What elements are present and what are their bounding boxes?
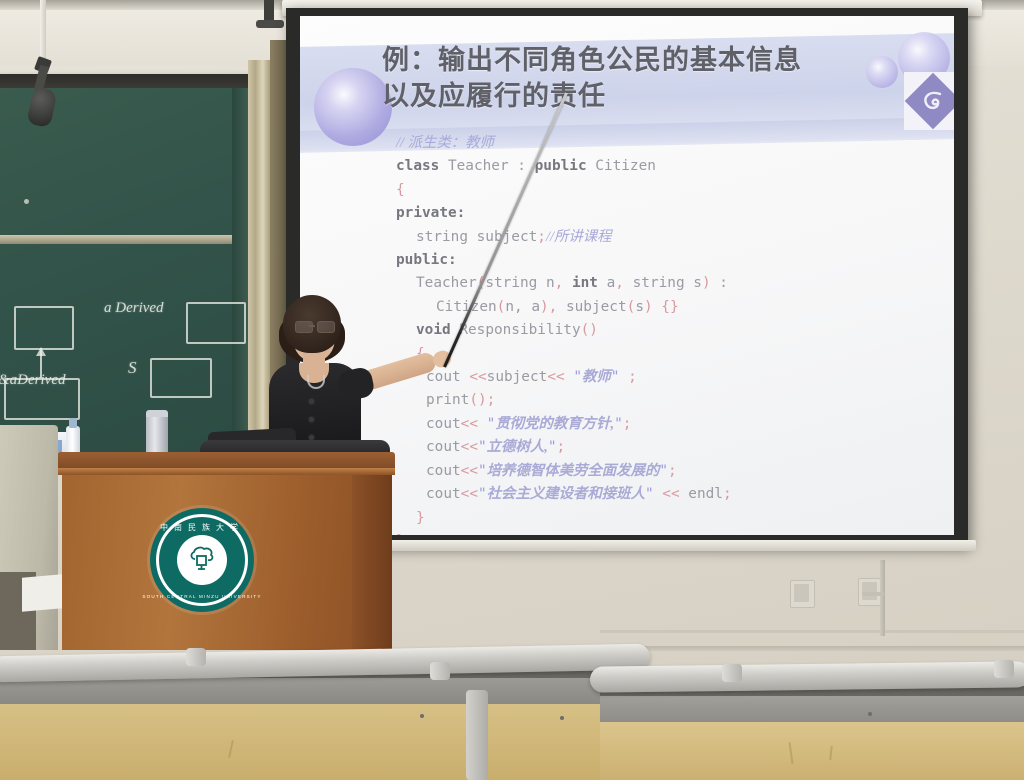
outlet-socket	[794, 584, 809, 602]
slide-title-line-2: 以及应履行的责任	[382, 78, 902, 114]
code-line: public:	[396, 249, 954, 272]
code-token: subject	[487, 369, 548, 385]
wall-conduit-elbow	[862, 592, 884, 596]
podium-side-panel	[352, 468, 392, 650]
code-token: ;	[723, 486, 732, 502]
code-token: (	[627, 299, 636, 315]
code-token: <<	[461, 486, 478, 502]
tree-icon	[185, 543, 219, 577]
blackboard-magnet	[24, 199, 29, 204]
ceiling-bracket-arm	[256, 20, 284, 28]
code-token: ;	[537, 229, 546, 245]
code-token: )	[702, 275, 711, 291]
handrail-front-clip-2	[994, 660, 1014, 678]
code-line: void Responsibility()	[396, 319, 954, 342]
slide-code-block: // 派生类：教师class Teacher : public Citizen{…	[396, 132, 954, 535]
code-token: "	[548, 439, 557, 455]
handrail-clip-2	[430, 662, 450, 680]
code-token: a	[607, 275, 616, 291]
handrail-front[interactable]	[590, 661, 1024, 692]
code-token: <<	[547, 369, 573, 385]
code-token: Citizen	[595, 158, 656, 174]
wall-conduit-pipe	[880, 560, 885, 636]
code-token: string n	[485, 275, 554, 291]
front-desk-gray-band-right	[600, 694, 1024, 722]
button-2	[309, 417, 314, 422]
code-line: print();	[396, 389, 954, 412]
code-token: <<	[469, 369, 486, 385]
cabinet-paper-sheet	[22, 574, 62, 611]
code-token: n, a	[505, 299, 540, 315]
code-token: ;	[668, 463, 677, 479]
code-token: private:	[396, 205, 465, 221]
code-line: class Teacher : public Citizen	[396, 155, 954, 178]
power-outlet-left[interactable]	[790, 580, 815, 608]
code-token: "	[478, 439, 487, 455]
desk-screw-1	[420, 714, 424, 718]
code-token: {	[396, 182, 405, 198]
thermos-cap	[146, 410, 168, 417]
blackboard-panel-gap	[232, 88, 248, 460]
code-token: ;	[557, 439, 566, 455]
spiral-diamond-icon	[905, 73, 954, 130]
front-desk-panel-right	[600, 718, 1024, 780]
water-bottle-cap	[69, 418, 77, 428]
wall-seam	[600, 646, 1024, 651]
chalk-box-top-left	[14, 306, 74, 350]
slide-title-line-1: 例：输出不同角色公民的基本信息	[382, 42, 902, 78]
code-token: endl	[688, 486, 723, 502]
code-token: "	[659, 463, 668, 479]
code-token: ,	[555, 275, 572, 291]
front-desk-panel-left	[0, 700, 620, 780]
emblem-ring: 中南民族大学 1951 SOUTH CENTRAL MINZU UNIVERSI…	[156, 514, 248, 606]
code-token: "	[478, 463, 487, 479]
code-line: cout<<"立德树人,";	[396, 436, 954, 459]
code-line: }	[396, 507, 954, 530]
chalk-box-top-right	[186, 302, 246, 344]
code-token: "	[645, 486, 654, 502]
code-token: <<	[461, 439, 478, 455]
code-line: string subject;//所讲课程	[396, 226, 954, 249]
decorative-sphere-left	[314, 68, 392, 146]
code-line: };	[396, 530, 954, 535]
code-token: cout	[426, 369, 469, 385]
code-token: cout	[426, 439, 461, 455]
desk-screw-2	[560, 716, 564, 720]
chalk-note-s: S	[128, 358, 137, 378]
code-token: ;	[623, 416, 632, 432]
code-token: <<	[654, 486, 689, 502]
glasses-right-lens-icon	[317, 321, 335, 333]
glasses-bridge	[309, 325, 315, 327]
code-token: "	[478, 486, 487, 502]
code-line: cout<<"社会主义建设者和接班人" << endl;	[396, 483, 954, 506]
desk-divider-post	[466, 690, 488, 780]
code-token: subject	[566, 299, 627, 315]
code-line: cout <<subject<< "教师" ;	[396, 366, 954, 389]
code-token: string s	[633, 275, 702, 291]
code-token: Teacher	[416, 275, 477, 291]
code-token: };	[396, 533, 413, 535]
code-line: {	[396, 343, 954, 366]
classroom-scene: a Derived S &aDerived 例：输出不同角色公民的基本信息 以及…	[0, 0, 1024, 780]
emblem-founding-year: 1951	[196, 587, 207, 593]
university-emblem: 中南民族大学 1951 SOUTH CENTRAL MINZU UNIVERSI…	[150, 508, 254, 612]
code-token: }	[416, 510, 425, 526]
emblem-english-name: SOUTH CENTRAL MINZU UNIVERSITY	[142, 594, 261, 599]
presentation-slide: 例：输出不同角色公民的基本信息 以及应履行的责任 // 派生类：教师class …	[300, 16, 954, 535]
outlet-socket	[862, 582, 877, 600]
code-token: //所讲课程	[546, 229, 612, 245]
handrail-clip-1	[186, 648, 206, 666]
code-token: public:	[396, 252, 457, 268]
code-token: ,	[615, 275, 632, 291]
slide-title: 例：输出不同角色公民的基本信息 以及应履行的责任	[382, 42, 902, 114]
button-1	[309, 399, 314, 404]
blackboard-slide-rail	[0, 235, 271, 244]
code-line: cout<< "贯彻党的教育方针,";	[396, 413, 954, 436]
code-token: int	[572, 275, 607, 291]
code-line: // 派生类：教师	[396, 132, 954, 155]
code-line: private:	[396, 202, 954, 225]
code-token: "	[611, 369, 628, 385]
code-token: :	[711, 275, 728, 291]
code-token: Teacher :	[448, 158, 535, 174]
code-token: 培养德智体美劳全面发展的	[487, 463, 660, 479]
slide-corner-logo	[904, 72, 954, 130]
code-token: cout	[426, 463, 461, 479]
code-token: 教师	[582, 369, 611, 385]
chalk-note-ref-a-derived: &aDerived	[0, 372, 65, 389]
code-line: cout<<"培养德智体美劳全面发展的";	[396, 460, 954, 483]
code-token: 立德树人,	[487, 439, 548, 455]
glasses-left-lens-icon	[295, 321, 313, 333]
code-line: Citizen(n, a), subject(s) {}	[396, 296, 954, 319]
code-token: "	[573, 369, 582, 385]
code-token: <<	[461, 463, 478, 479]
code-token: print	[426, 392, 469, 408]
spiral-icon	[920, 88, 946, 114]
wall-seam-secondary	[600, 630, 1024, 633]
code-token: ();	[469, 392, 495, 408]
chalk-note-a-derived: a Derived	[104, 300, 164, 317]
code-token: Responsibility	[459, 322, 580, 338]
desk-screw-3	[868, 712, 872, 716]
code-token: ()	[581, 322, 598, 338]
code-token: 贯彻党的教育方针,	[495, 416, 614, 432]
code-token: public	[535, 158, 596, 174]
handrail-front-clip-1	[722, 664, 742, 682]
code-token: s	[635, 299, 644, 315]
emblem-chinese-name: 中南民族大学	[160, 522, 244, 533]
podium-lip-molding	[57, 468, 395, 475]
code-token: "	[614, 416, 623, 432]
chalk-box-bottom-right	[150, 358, 212, 398]
code-token: ) {}	[644, 299, 679, 315]
code-token: ),	[540, 299, 566, 315]
code-token: ;	[628, 369, 637, 385]
code-token: // 派生类：教师	[396, 135, 494, 151]
code-token: string subject	[416, 229, 537, 245]
emblem-center	[177, 535, 227, 585]
code-token: cout	[426, 486, 461, 502]
microphone-pole	[40, 0, 46, 62]
code-token: class	[396, 158, 448, 174]
code-token: <<	[461, 416, 487, 432]
code-line: {	[396, 179, 954, 202]
code-token: cout	[426, 416, 461, 432]
code-token: 社会主义建设者和接班人	[487, 486, 645, 502]
code-token: void	[416, 322, 459, 338]
